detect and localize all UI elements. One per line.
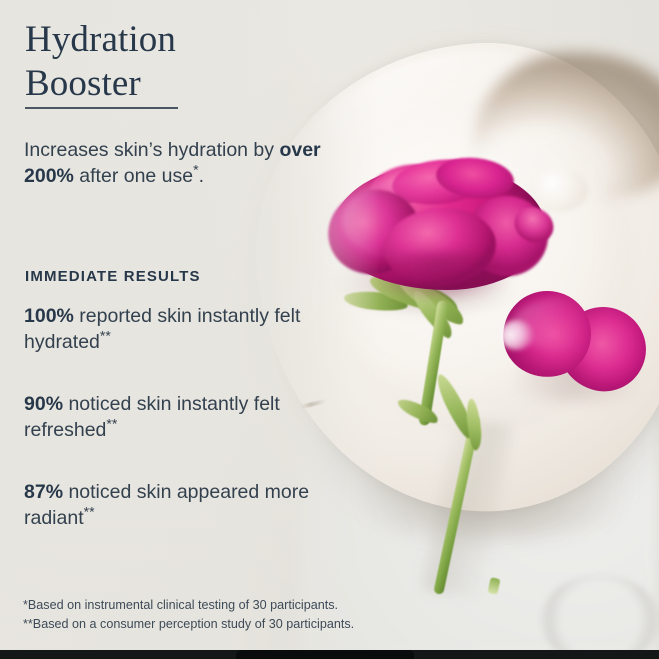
stat-item: 90% noticed skin instantly felt refreshe… <box>24 391 324 444</box>
results-section-heading: IMMEDIATE RESULTS <box>25 268 201 285</box>
stat-percent: 90% <box>24 393 63 415</box>
stat-description: noticed skin appeared more radiant <box>24 481 309 529</box>
page-title: Hydration Booster <box>25 18 355 105</box>
footnotes: *Based on instrumental clinical testing … <box>23 596 354 634</box>
claims-content: Hydration Booster Increases skin’s hydra… <box>0 0 659 659</box>
stat-percent: 100% <box>24 305 74 327</box>
product-claims-graphic: Hydration Booster Increases skin’s hydra… <box>0 0 659 659</box>
stat-percent: 87% <box>24 481 63 503</box>
page-title-line-1: Hydration <box>25 19 176 60</box>
stat-item: 87% noticed skin appeared more radiant** <box>24 479 324 532</box>
stat-item: 100% reported skin instantly felt hydrat… <box>24 303 324 356</box>
primary-claim-period: . <box>199 165 204 187</box>
primary-claim-part-2: after one use <box>74 165 193 187</box>
bottom-edge-band <box>0 650 659 659</box>
stat-footnote-marker: ** <box>106 416 117 432</box>
title-divider-rule <box>25 107 178 109</box>
footnote-line-2: **Based on a consumer perception study o… <box>23 615 354 634</box>
footnote-line-1: *Based on instrumental clinical testing … <box>23 596 354 615</box>
bottom-edge-notch <box>236 650 414 659</box>
page-title-line-2: Booster <box>25 62 355 106</box>
stat-description: noticed skin instantly felt refreshed <box>24 393 280 441</box>
stat-footnote-marker: ** <box>100 328 111 344</box>
primary-claim: Increases skin’s hydration by over 200% … <box>24 137 354 189</box>
stat-footnote-marker: ** <box>84 504 95 520</box>
primary-claim-part-1: Increases skin’s hydration by <box>24 139 279 161</box>
